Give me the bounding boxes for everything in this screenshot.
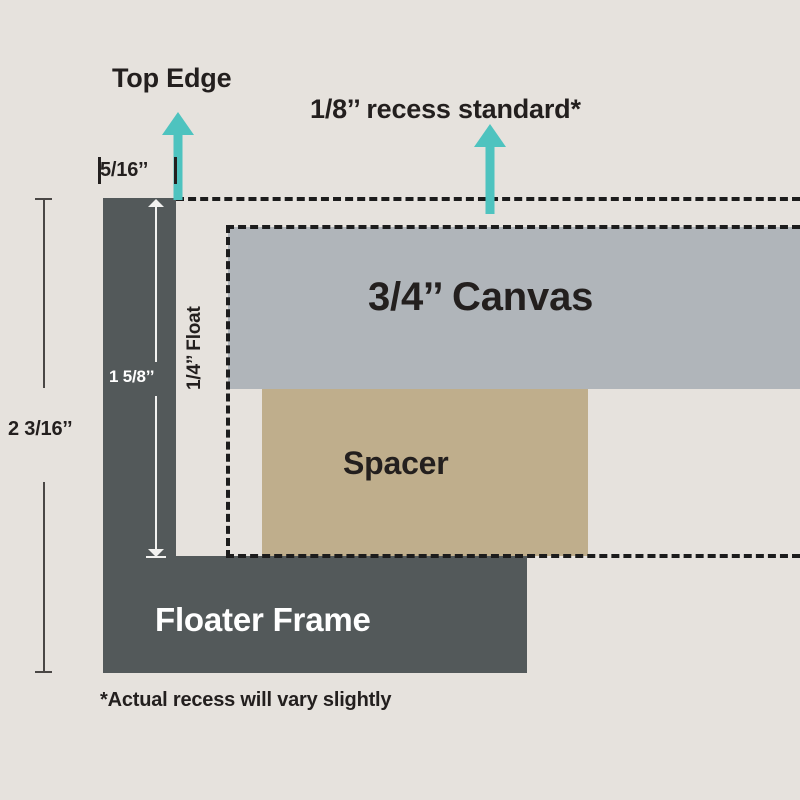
top-edge-arrow-icon (160, 112, 196, 200)
face-width-dimension-label: 5/16’’ (100, 159, 148, 182)
inner-depth-line-lower (155, 396, 157, 552)
float-gap-dimension-label: 1/4’’ Float (184, 306, 206, 390)
inner-depth-line-upper (155, 204, 157, 362)
inner-depth-dimension-label: 1 5/8’’ (109, 367, 154, 387)
diagram-canvas: Top Edge 1/8’’ recess standard* 5/16’’ 2… (0, 0, 800, 800)
overall-dimension-cap-bottom (35, 671, 52, 673)
recess-standard-label: 1/8’’ recess standard* (310, 94, 581, 125)
top-edge-label: Top Edge (112, 63, 231, 94)
canvas-label: 3/4’’ Canvas (368, 275, 593, 320)
overall-dimension-line-lower (43, 482, 45, 672)
footnote-label: *Actual recess will vary slightly (100, 689, 391, 712)
inner-depth-cap-bottom (146, 556, 166, 558)
overall-dimension-line-upper (43, 198, 45, 388)
floater-frame-label: Floater Frame (155, 601, 371, 639)
overall-height-dimension-label: 2 3/16’’ (8, 418, 72, 441)
recess-arrow-icon (472, 124, 508, 214)
arrow-shaft (486, 142, 495, 214)
spacer-label: Spacer (343, 445, 449, 482)
face-width-tick-right (174, 157, 177, 184)
